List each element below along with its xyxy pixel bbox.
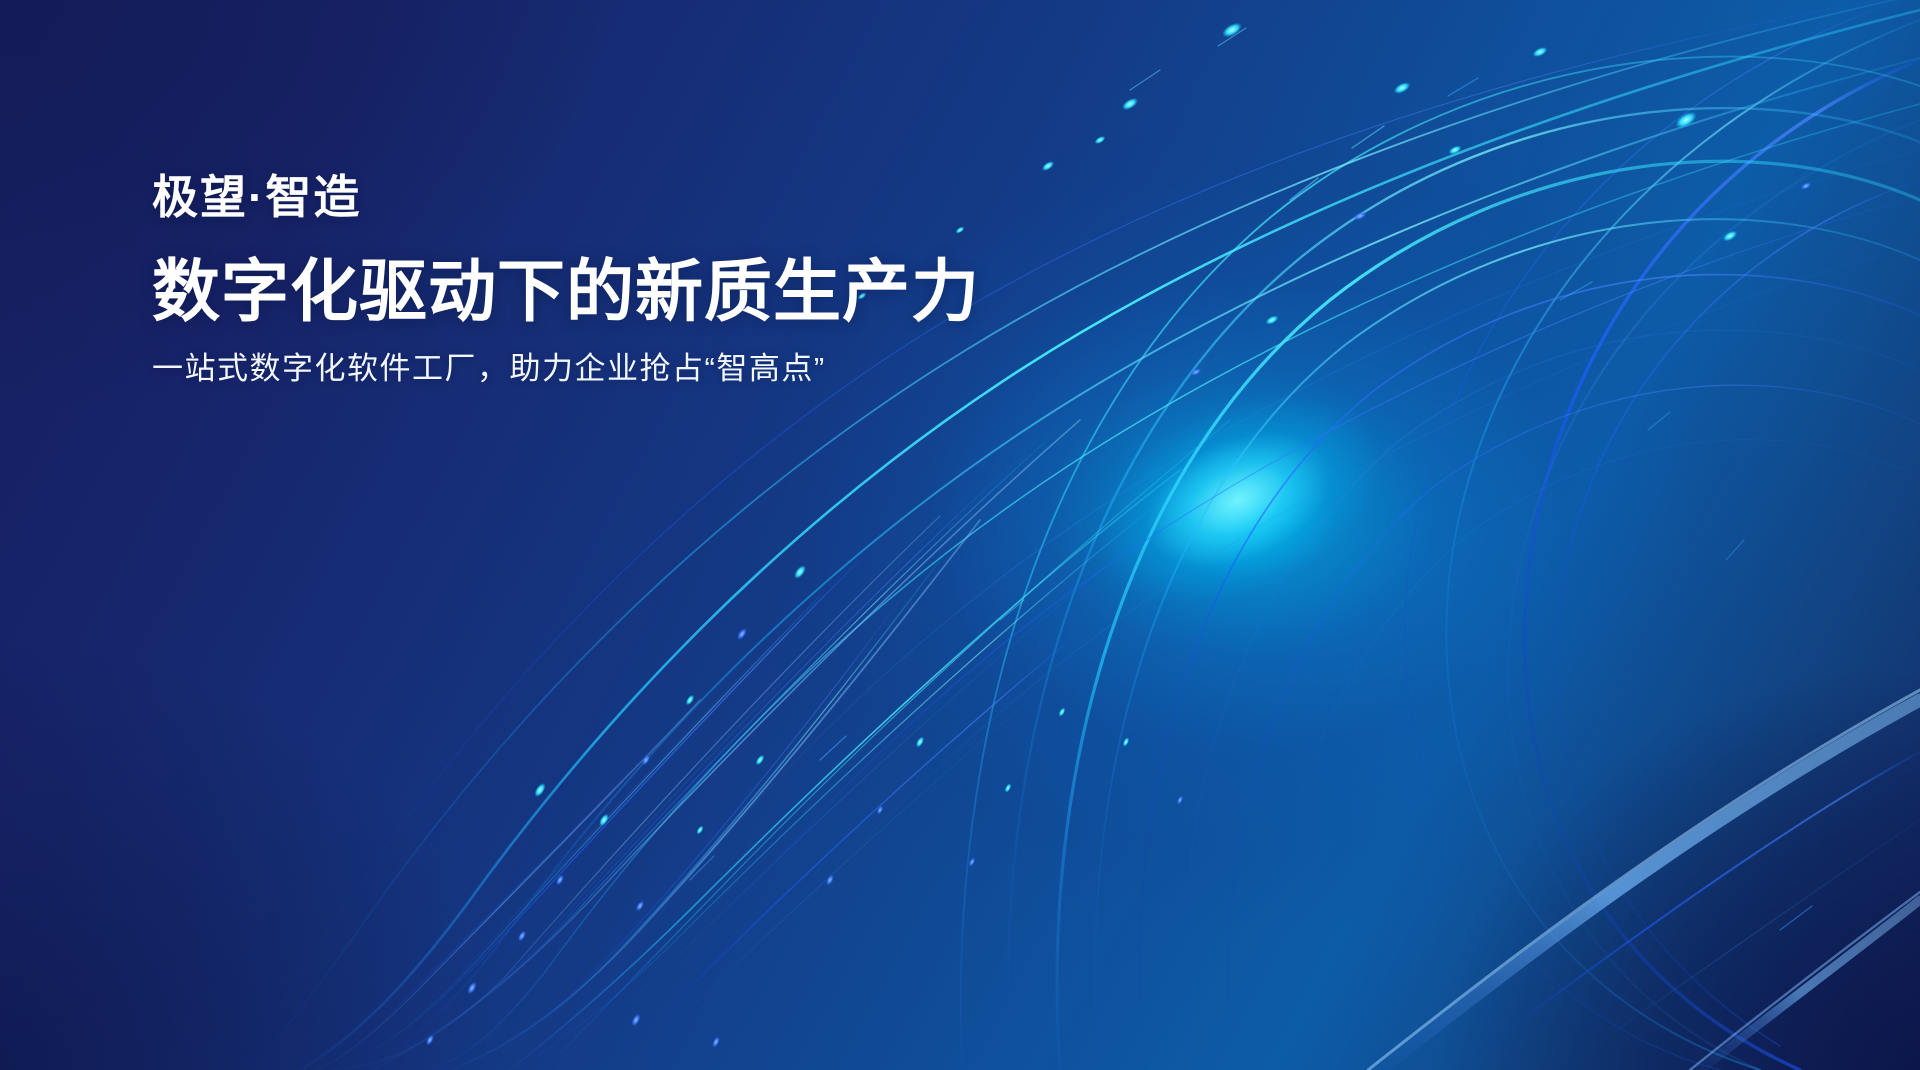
galaxy-bottom-band — [1368, 690, 1920, 1070]
spiral-galaxy-graphic — [0, 0, 1920, 1070]
page-title: 数字化驱动下的新质生产力 — [152, 257, 980, 328]
hero-text-block: 极望·智造 数字化驱动下的新质生产力 一站式数字化软件工厂，助力企业抢占“智高点… — [152, 172, 980, 387]
galaxy-lower-streaks — [436, 420, 1230, 1070]
galaxy-ray-bundle — [312, 420, 1080, 1070]
galaxy-outer-arcs — [1405, 0, 1920, 1070]
galaxy-main-arms — [238, 0, 1920, 1070]
banner-slide: 极望·智造 数字化驱动下的新质生产力 一站式数字化软件工厂，助力企业抢占“智高点… — [0, 0, 1920, 1070]
brand-eyebrow: 极望·智造 — [152, 172, 980, 223]
page-subtitle: 一站式数字化软件工厂，助力企业抢占“智高点” — [152, 350, 980, 387]
